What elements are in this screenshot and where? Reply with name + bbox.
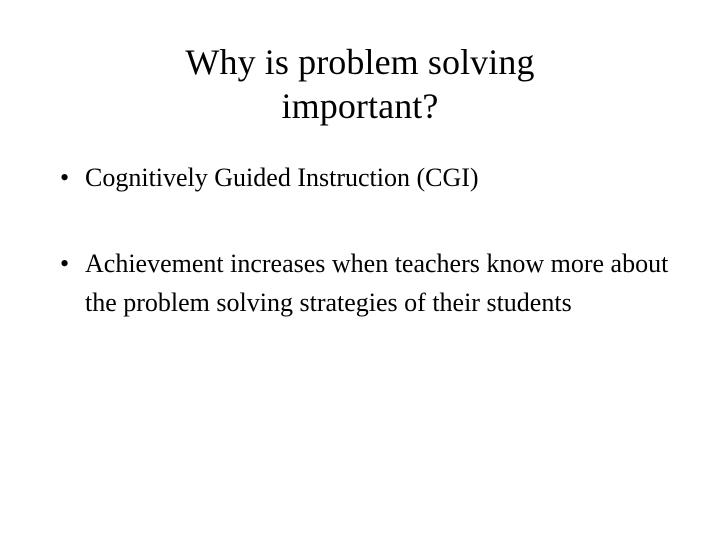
list-item: • Cognitively Guided Instruction (CGI) — [55, 158, 675, 197]
slide-title: Why is problem solving important? — [36, 40, 684, 128]
list-item-label: Cognitively Guided Instruction (CGI) — [85, 158, 675, 197]
slide-body: • Cognitively Guided Instruction (CGI) •… — [55, 158, 675, 322]
presentation-slide: Why is problem solving important? • Cogn… — [0, 0, 720, 540]
list-item-label: Achievement increases when teachers know… — [85, 244, 675, 322]
bullet-point-icon: • — [60, 158, 80, 197]
slide-title-line-1: Why is problem solving — [36, 40, 684, 84]
bullet-point-icon: • — [60, 244, 80, 283]
slide-title-line-2: important? — [36, 84, 684, 128]
list-item: • Achievement increases when teachers kn… — [55, 244, 675, 322]
bullet-spacer — [55, 197, 675, 244]
